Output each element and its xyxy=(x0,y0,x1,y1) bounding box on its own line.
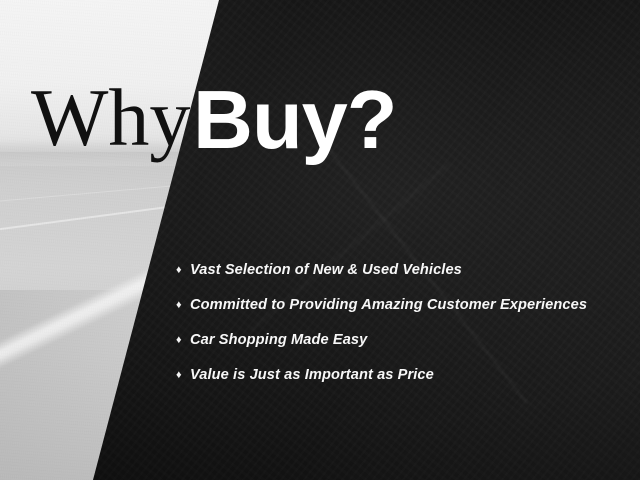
list-item-label: Vast Selection of New & Used Vehicles xyxy=(190,263,462,278)
list-item: ♦ Car Shopping Made Easy xyxy=(176,323,626,358)
diamond-bullet-icon: ♦ xyxy=(176,265,190,276)
why-buy-slide: Why Buy? ♦ Vast Selection of New & Used … xyxy=(0,0,640,480)
list-item-label: Committed to Providing Amazing Customer … xyxy=(190,298,587,313)
headline-group: Why Buy? xyxy=(0,0,640,480)
diamond-bullet-icon: ♦ xyxy=(176,335,190,346)
list-item: ♦ Value is Just as Important as Price xyxy=(176,358,626,393)
headline-word-buy: Buy? xyxy=(193,78,397,161)
benefits-list: ♦ Vast Selection of New & Used Vehicles … xyxy=(176,253,626,393)
diamond-bullet-icon: ♦ xyxy=(176,370,190,381)
list-item-label: Car Shopping Made Easy xyxy=(190,333,367,348)
list-item: ♦ Vast Selection of New & Used Vehicles xyxy=(176,253,626,288)
list-item-label: Value is Just as Important as Price xyxy=(190,368,434,383)
headline-word-why: Why xyxy=(31,77,190,159)
list-item: ♦ Committed to Providing Amazing Custome… xyxy=(176,288,626,323)
diamond-bullet-icon: ♦ xyxy=(176,300,190,311)
